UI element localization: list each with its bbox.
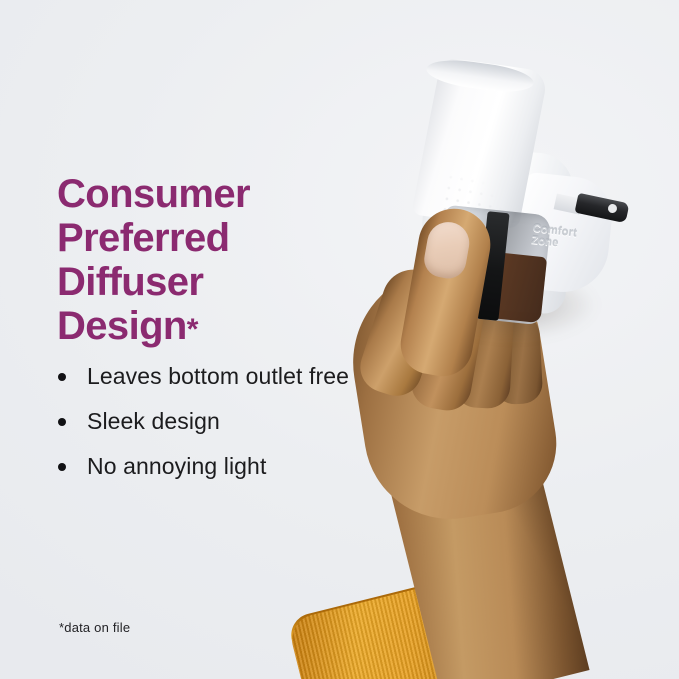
footnote: *data on file [59, 620, 130, 635]
headline-line-3: Diffuser [57, 260, 357, 304]
list-item: Sleek design [55, 408, 365, 435]
benefit-list: Leaves bottom outlet free Sleek design N… [55, 363, 365, 480]
product-marketing-image: Comfort Zone Consumer Preferred Diffuser… [0, 0, 679, 679]
brand-emboss: Comfort Zone [529, 222, 595, 269]
list-item-label: Sleek design [87, 408, 220, 434]
bullet-dot-icon [58, 463, 66, 471]
headline-line-4-text: Design [57, 304, 187, 348]
list-item: Leaves bottom outlet free [55, 363, 365, 390]
list-item: No annoying light [55, 453, 365, 480]
brand-line-2: Zone [531, 234, 559, 249]
headline-line-1: Consumer [57, 172, 357, 216]
headline-line-2: Preferred [57, 216, 357, 260]
headline-line-4: Design* [57, 304, 357, 352]
headline-asterisk: * [187, 313, 198, 346]
headline: Consumer Preferred Diffuser Design* [57, 172, 357, 352]
bullet-dot-icon [58, 418, 66, 426]
list-item-label: No annoying light [87, 453, 266, 479]
bullet-dot-icon [58, 373, 66, 381]
list-item-label: Leaves bottom outlet free [87, 363, 349, 389]
